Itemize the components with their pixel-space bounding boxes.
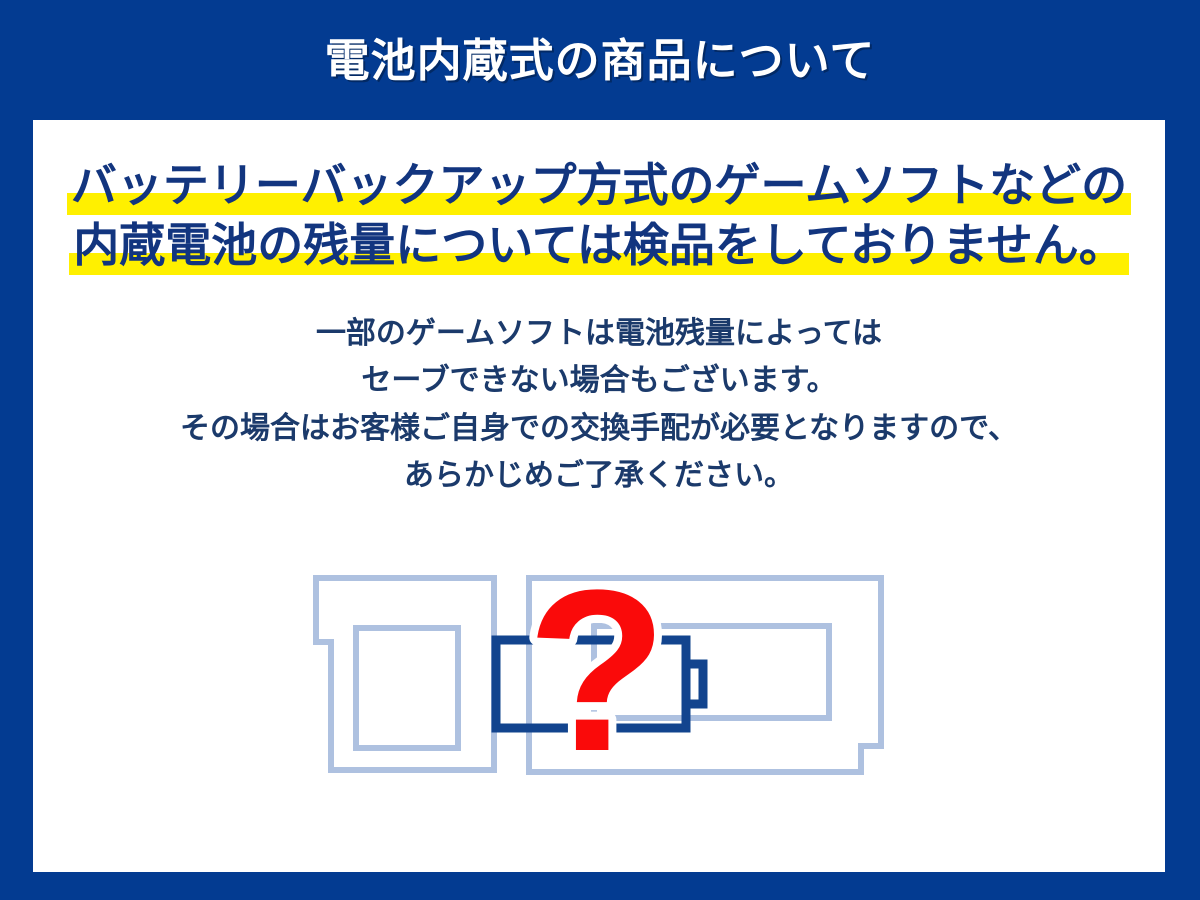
body-line: あらかじめご了承ください。 xyxy=(33,452,1165,499)
lead-line: 内蔵電池の残量については検品をしておりません。 xyxy=(33,222,1165,268)
illustration-area: ? ? xyxy=(33,550,1165,810)
lead-statement: バッテリーバックアップ方式のゲームソフトなどの 内蔵電池の残量については検品をし… xyxy=(33,162,1165,268)
page-title: 電池内蔵式の商品について xyxy=(325,38,876,83)
game-cartridge-left-icon xyxy=(316,578,494,770)
lead-line-text: 内蔵電池の残量については検品をしておりません。 xyxy=(69,219,1129,275)
cartridge-battery-illustration: ? ? xyxy=(289,550,909,800)
game-cartridge-left-label-icon xyxy=(356,628,458,748)
question-mark-icon: ? xyxy=(527,550,668,799)
body-line: セーブできない場合もございます。 xyxy=(33,357,1165,404)
header-bar: 電池内蔵式の商品について xyxy=(0,0,1200,120)
lead-line-text: バッテリーバックアップ方式のゲームソフトなどの xyxy=(67,159,1131,215)
body-paragraph: 一部のゲームソフトは電池残量によっては セーブできない場合もございます。 その場… xyxy=(33,310,1165,500)
content-panel: バッテリーバックアップ方式のゲームソフトなどの 内蔵電池の残量については検品をし… xyxy=(33,120,1165,872)
body-line: 一部のゲームソフトは電池残量によっては xyxy=(33,310,1165,357)
lead-line: バッテリーバックアップ方式のゲームソフトなどの xyxy=(33,162,1165,208)
body-line: その場合はお客様ご自身での交換手配が必要となりますので、 xyxy=(33,405,1165,452)
